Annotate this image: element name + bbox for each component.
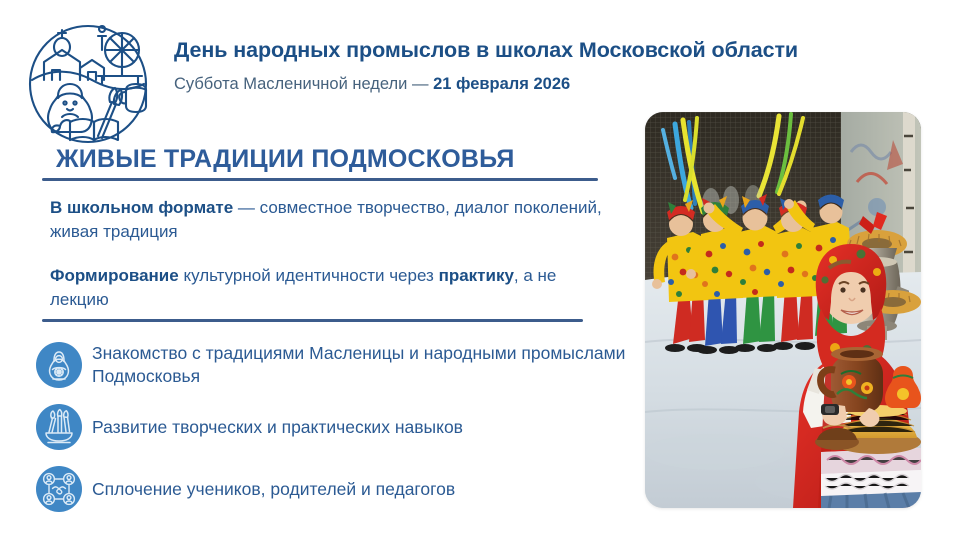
header-subtitle-date: 21 февраля 2026 (433, 75, 570, 93)
divider-bottom (42, 319, 583, 322)
paragraph-school-format: В школьном формате — совместное творчест… (50, 196, 616, 244)
list-item-label: Знакомство с традициями Масленицы и наро… (92, 342, 636, 389)
paragraph-2-mid: культурной идентичности через (179, 266, 439, 285)
header: День народных промыслов в школах Московс… (0, 0, 958, 130)
people-handshake-icon (36, 466, 82, 512)
header-text-block: День народных промыслов в школах Московс… (174, 38, 874, 95)
paragraph-2-lead2: практику (439, 266, 514, 285)
list-item: Развитие творческих и практических навык… (36, 404, 636, 452)
header-subtitle-prefix: Суббота Масленичной недели — (174, 75, 433, 93)
divider-top (42, 178, 598, 181)
list-item: Сплочение учеников, родителей и педагого… (36, 466, 636, 514)
maslenitsa-celebration-photo (645, 112, 921, 508)
paragraph-identity: Формирование культурной идентичности чер… (50, 264, 616, 312)
list-item: Знакомство с традициями Масленицы и наро… (36, 342, 636, 390)
header-subtitle: Суббота Масленичной недели — 21 февраля … (174, 75, 874, 95)
page-title: День народных промыслов в школах Московс… (174, 38, 874, 64)
matryoshka-icon (36, 342, 82, 388)
list-item-label: Сплочение учеников, родителей и педагого… (92, 466, 455, 501)
list-item-label: Развитие творческих и практических навык… (92, 404, 463, 439)
content-column: ЖИВЫЕ ТРАДИЦИИ ПОДМОСКОВЬЯ В школьном фо… (0, 130, 640, 537)
paragraph-1-lead: В школьном формате (50, 198, 233, 217)
paint-brushes-icon (36, 404, 82, 450)
goals-list: Знакомство с традициями Масленицы и наро… (36, 342, 636, 528)
section-heading: ЖИВЫЕ ТРАДИЦИИ ПОДМОСКОВЬЯ (56, 145, 515, 174)
slide-canvas: День народных промыслов в школах Московс… (0, 0, 958, 537)
paragraph-2-lead: Формирование (50, 266, 179, 285)
